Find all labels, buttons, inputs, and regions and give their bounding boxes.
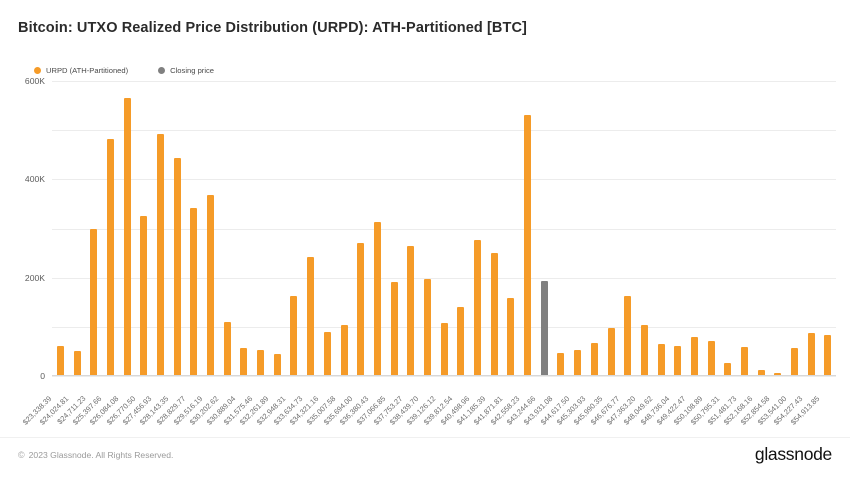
bar-urpd[interactable] [341,325,348,376]
bar-slot[interactable] [753,81,770,376]
bar-slot[interactable] [369,81,386,376]
chart-page: Bitcoin: UTXO Realized Price Distributio… [0,0,850,478]
bar-slot[interactable] [619,81,636,376]
bar-slot[interactable] [236,81,253,376]
bar-urpd[interactable] [441,323,448,376]
plot-area: 0200K400K600K [52,81,836,376]
bar-slot[interactable] [286,81,303,376]
bar-slot[interactable] [586,81,603,376]
bar-slot[interactable] [152,81,169,376]
bar-urpd[interactable] [624,296,631,376]
bar-slot[interactable] [169,81,186,376]
bar-slot[interactable] [453,81,470,376]
bar-urpd[interactable] [124,98,131,376]
bar-urpd[interactable] [207,195,214,376]
bar-slot[interactable] [653,81,670,376]
bar-slot[interactable] [636,81,653,376]
bar-urpd[interactable] [424,279,431,376]
bar-urpd[interactable] [57,346,64,376]
bar-urpd[interactable] [357,243,364,376]
bar-urpd[interactable] [374,222,381,376]
bar-slot[interactable] [52,81,69,376]
bar-urpd[interactable] [290,296,297,376]
bar-slot[interactable] [536,81,553,376]
chart-legend: URPD (ATH-Partitioned) Closing price [34,66,214,75]
bar-slot[interactable] [119,81,136,376]
legend-dot-urpd-icon [34,67,41,74]
bar-urpd[interactable] [407,246,414,376]
bar-urpd[interactable] [457,307,464,376]
bar-slot[interactable] [352,81,369,376]
legend-item-closing-price[interactable]: Closing price [158,66,214,75]
bar-slot[interactable] [302,81,319,376]
bar-slot[interactable] [252,81,269,376]
bar-slot[interactable] [486,81,503,376]
legend-label-urpd: URPD (ATH-Partitioned) [46,66,128,75]
bar-slot[interactable] [503,81,520,376]
y-axis-tick-label: 0 [40,371,45,381]
bar-urpd[interactable] [140,216,147,376]
bar-slot[interactable] [669,81,686,376]
legend-dot-closing-price-icon [158,67,165,74]
y-axis-tick-label: 600K [25,76,45,86]
y-axis-tick-label: 400K [25,174,45,184]
bar-slot[interactable] [770,81,787,376]
bar-slot[interactable] [269,81,286,376]
bar-urpd[interactable] [174,158,181,376]
glassnode-logo: glassnode [755,444,832,465]
bar-slot[interactable] [69,81,86,376]
bar-urpd[interactable] [90,229,97,377]
bar-urpd[interactable] [107,139,114,376]
copyright-notice: © 2023 Glassnode. All Rights Reserved. [18,450,173,460]
bar-slot[interactable] [469,81,486,376]
bar-slot[interactable] [569,81,586,376]
bar-slot[interactable] [135,81,152,376]
bar-slot[interactable] [85,81,102,376]
bar-slot[interactable] [786,81,803,376]
bar-slot[interactable] [219,81,236,376]
bar-slot[interactable] [519,81,536,376]
bar-slot[interactable] [402,81,419,376]
bar-slot[interactable] [703,81,720,376]
bar-slot[interactable] [720,81,737,376]
page-title: Bitcoin: UTXO Realized Price Distributio… [18,20,527,36]
y-axis-tick-label: 200K [25,273,45,283]
copyright-icon: © [18,450,25,460]
bar-slot[interactable] [436,81,453,376]
bar-urpd[interactable] [491,253,498,376]
bar-urpd[interactable] [157,134,164,376]
bar-urpd[interactable] [524,115,531,376]
bar-closing-price[interactable] [541,281,548,376]
bar-slot[interactable] [186,81,203,376]
bar-urpd[interactable] [474,240,481,376]
legend-label-closing-price: Closing price [170,66,214,75]
bar-slot[interactable] [803,81,820,376]
bar-slot[interactable] [603,81,620,376]
bar-slot[interactable] [820,81,837,376]
bar-slot[interactable] [336,81,353,376]
bar-slot[interactable] [686,81,703,376]
bar-slot[interactable] [202,81,219,376]
copyright-text: 2023 Glassnode. All Rights Reserved. [29,450,174,460]
bar-slot[interactable] [419,81,436,376]
bar-slot[interactable] [319,81,336,376]
bar-slot[interactable] [102,81,119,376]
bar-slot[interactable] [553,81,570,376]
bar-slot[interactable] [386,81,403,376]
bar-slot[interactable] [736,81,753,376]
bar-urpd[interactable] [307,257,314,376]
bar-urpd[interactable] [391,282,398,376]
footer-divider [0,437,850,438]
bar-urpd[interactable] [507,298,514,376]
bar-urpd[interactable] [190,208,197,376]
bar-series [52,81,836,376]
legend-item-urpd[interactable]: URPD (ATH-Partitioned) [34,66,128,75]
